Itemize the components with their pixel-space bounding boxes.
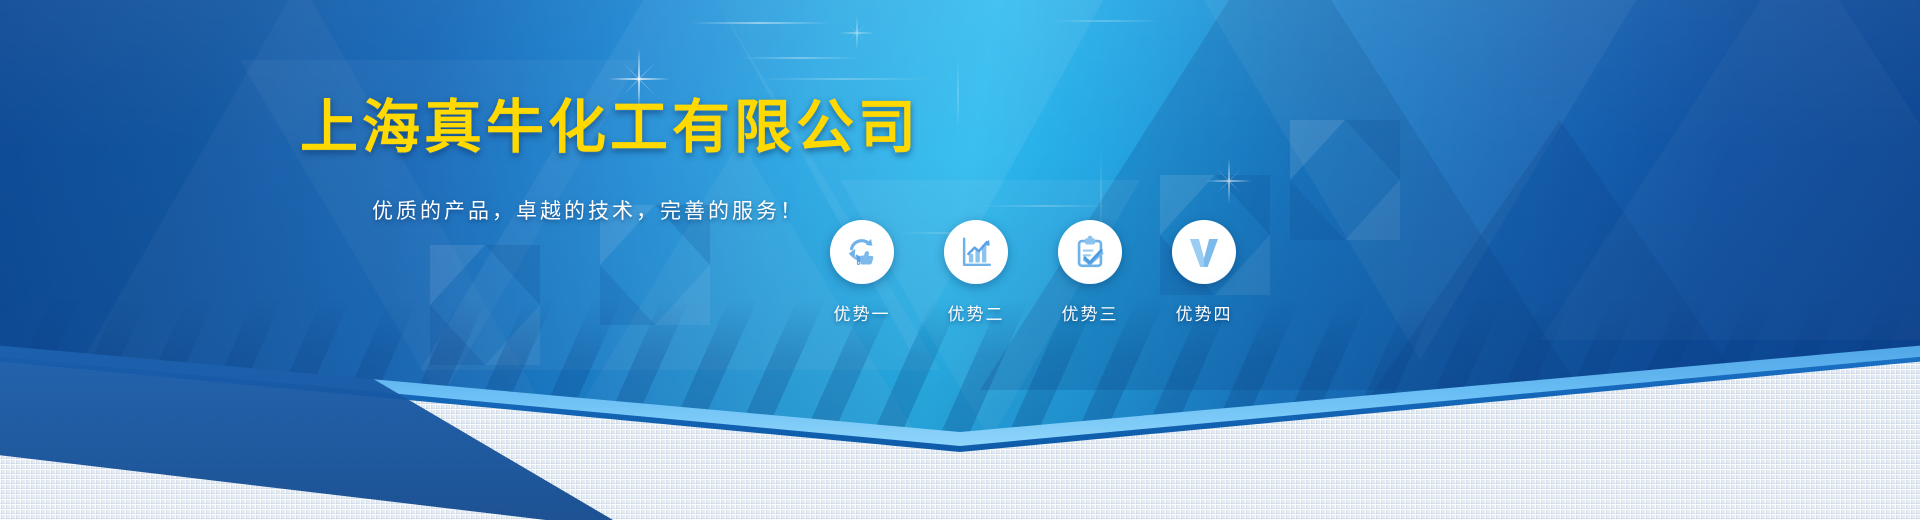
advantage-item-1[interactable]: 优势一 [828, 220, 896, 325]
company-hero-banner: 上海真牛化工有限公司 优质的产品，卓越的技术，完善的服务！ [0, 0, 1920, 520]
advantage-label: 优势三 [1062, 300, 1119, 325]
clipboard-check-icon [1071, 233, 1109, 271]
advantage-label: 优势一 [834, 300, 891, 325]
advantage-icon-circle[interactable] [944, 220, 1008, 284]
advantage-label: 优势二 [948, 300, 1005, 325]
advantage-label: 优势四 [1176, 300, 1233, 325]
company-title: 上海真牛化工有限公司 [300, 92, 920, 164]
advantage-item-4[interactable]: 优势四 [1170, 220, 1238, 325]
advantage-icon-circle[interactable] [830, 220, 894, 284]
advantage-item-3[interactable]: 优势三 [1056, 220, 1124, 325]
advantage-icon-circle[interactable] [1058, 220, 1122, 284]
banner-content: 上海真牛化工有限公司 优质的产品，卓越的技术，完善的服务！ [0, 0, 1920, 520]
advantage-list: 优势一 优势二 [828, 220, 1238, 325]
company-slogan: 优质的产品，卓越的技术，完善的服务！ [372, 196, 804, 228]
advantage-icon-circle[interactable] [1172, 220, 1236, 284]
bar-chart-growth-icon [957, 233, 995, 271]
v-checkmark-icon [1184, 232, 1224, 272]
advantage-item-2[interactable]: 优势二 [942, 220, 1010, 325]
thumbs-up-refresh-icon [843, 233, 881, 271]
